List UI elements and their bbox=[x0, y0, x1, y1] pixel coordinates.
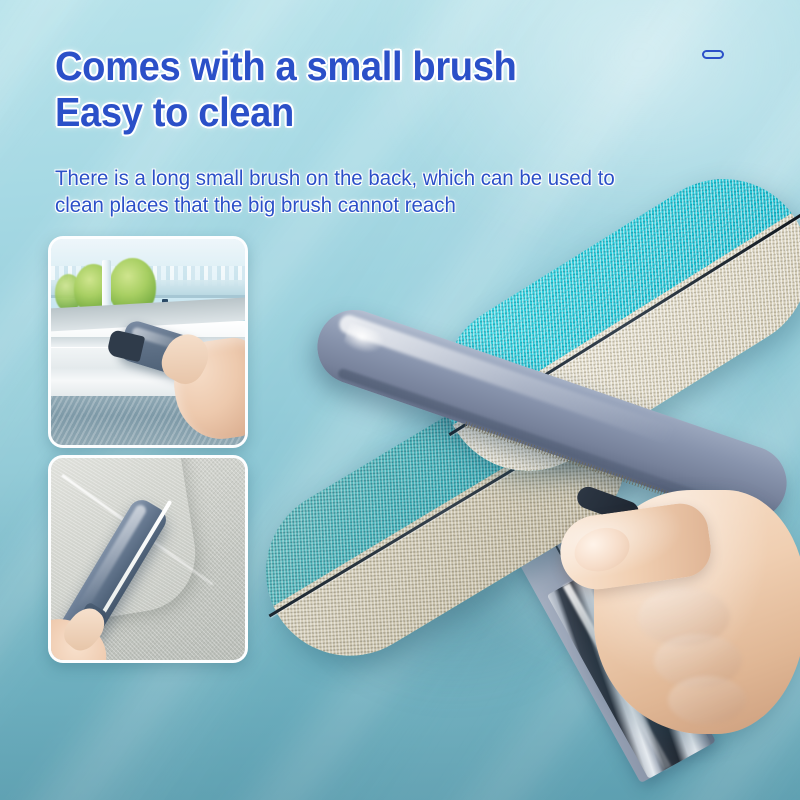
headline-line-1: Comes with a small brush bbox=[55, 43, 516, 89]
subtitle-line-2: clean places that the big brush cannot r… bbox=[55, 192, 615, 219]
double-sided-lint-brush bbox=[258, 232, 800, 800]
sofa-scene bbox=[51, 458, 245, 660]
hand bbox=[558, 468, 800, 748]
subtitle: There is a long small brush on the back,… bbox=[55, 165, 615, 219]
headline: Comes with a small brush Easy to clean bbox=[55, 44, 516, 136]
knuckle bbox=[668, 676, 746, 724]
product-feature-banner: Comes with a small brush Easy to clean T… bbox=[0, 0, 800, 800]
window-sill-cleaning-photo bbox=[48, 236, 248, 448]
window-sill-scene bbox=[51, 239, 245, 445]
headline-line-2: Easy to clean bbox=[55, 90, 516, 136]
subtitle-line-1: There is a long small brush on the back,… bbox=[55, 166, 615, 190]
sofa-fabric-cleaning-photo bbox=[48, 455, 248, 663]
thumbnail bbox=[569, 521, 635, 578]
dash-mark-icon bbox=[702, 50, 724, 59]
